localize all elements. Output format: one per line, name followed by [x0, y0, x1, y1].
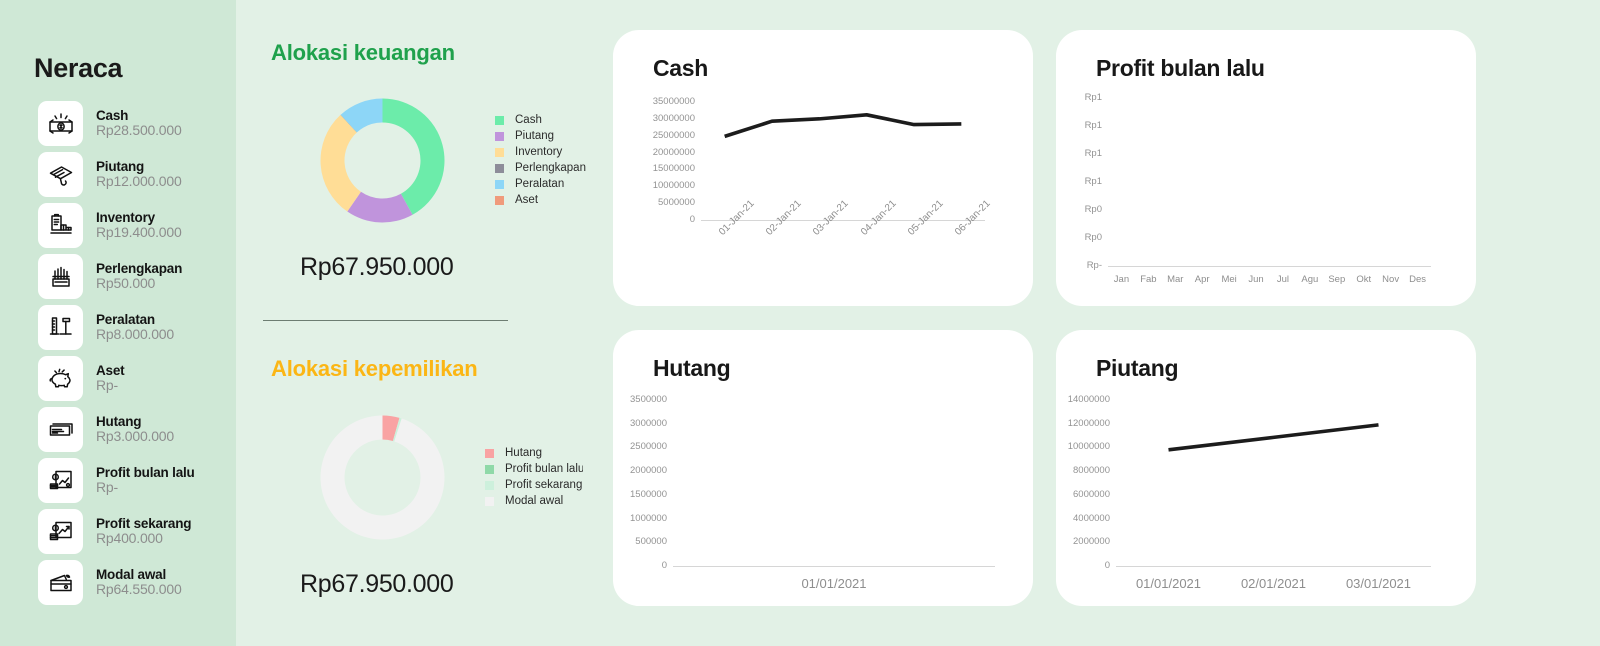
- wallet-icon: [38, 560, 83, 605]
- sidebar-item-label: Cash: [96, 108, 182, 123]
- profit-report-icon: [38, 458, 83, 503]
- legend-item[interactable]: Profit sekarang: [485, 477, 583, 493]
- sidebar-item-value: Rp64.550.000: [96, 582, 182, 598]
- chart-card-profit-bulan-lalu: Profit bulan lalu Rp1Rp1Rp1Rp1Rp0Rp0Rp-J…: [1056, 30, 1476, 306]
- sidebar-item-text: Profit bulan laluRp-: [96, 465, 195, 496]
- legend-item[interactable]: Hutang: [485, 445, 583, 461]
- sidebar-item-label: Profit bulan lalu: [96, 465, 195, 480]
- sidebar-item-aset[interactable]: AsetRp-: [38, 356, 195, 401]
- y-axis-tick-label: 3500000: [595, 394, 667, 405]
- sidebar-item-profit-sekarang[interactable]: Profit sekarangRp400.000: [38, 509, 195, 554]
- debt-card-icon: [38, 407, 83, 452]
- sidebar-item-text: PerlengkapanRp50.000: [96, 261, 182, 292]
- legend-label: Perlengkapan: [515, 162, 586, 174]
- legend-label: Piutang: [515, 130, 554, 142]
- sidebar-item-label: Aset: [96, 363, 124, 378]
- sidebar-item-value: Rp-: [96, 480, 195, 496]
- sidebar-item-label: Inventory: [96, 210, 182, 225]
- sidebar-item-modal-awal[interactable]: Modal awalRp64.550.000: [38, 560, 195, 605]
- legend-swatch-icon: [485, 465, 494, 474]
- sidebar-item-text: PeralatanRp8.000.000: [96, 312, 174, 343]
- y-axis-tick-label: 1000000: [595, 513, 667, 524]
- legend-item[interactable]: Modal awal: [485, 493, 583, 509]
- sidebar-item-text: AsetRp-: [96, 363, 124, 394]
- sidebar-item-text: HutangRp3.000.000: [96, 414, 174, 445]
- sidebar-item-perlengkapan[interactable]: PerlengkapanRp50.000: [38, 254, 195, 299]
- legend-item[interactable]: Perlengkapan: [495, 160, 586, 176]
- donut-legend-alokasi-keuangan: CashPiutangInventoryPerlengkapanPeralata…: [495, 112, 586, 208]
- chart-plot-piutang: 1400000012000000100000008000000600000040…: [1056, 330, 1476, 606]
- sidebar-item-peralatan[interactable]: PeralatanRp8.000.000: [38, 305, 195, 350]
- sidebar-item-label: Perlengkapan: [96, 261, 182, 276]
- x-axis-tick-label: 01/01/2021: [779, 576, 889, 591]
- cash-icon: [38, 101, 83, 146]
- sidebar-item-value: Rp19.400.000: [96, 225, 182, 241]
- legend-swatch-icon: [485, 497, 494, 506]
- legend-label: Modal awal: [505, 495, 563, 507]
- sidebar-item-text: InventoryRp19.400.000: [96, 210, 182, 241]
- chart-card-piutang: Piutang 14000000120000001000000080000006…: [1056, 330, 1476, 606]
- chart-plot-hutang: 3500000300000025000002000000150000010000…: [613, 330, 1033, 606]
- legend-item[interactable]: Aset: [495, 192, 586, 208]
- chart-plot-cash: 3500000030000000250000002000000015000000…: [613, 30, 1033, 306]
- data-series-line: [725, 115, 962, 137]
- legend-swatch-icon: [495, 196, 504, 205]
- y-axis-tick-label: Rp1: [1030, 176, 1102, 187]
- chart-card-cash: Cash 35000000300000002500000020000000150…: [613, 30, 1033, 306]
- legend-item[interactable]: Cash: [495, 112, 586, 128]
- sidebar: Neraca CashRp28.500.000 PiutangRp12.000.…: [0, 0, 236, 646]
- x-axis-line: [673, 566, 995, 567]
- legend-swatch-icon: [495, 164, 504, 173]
- y-axis-tick-label: Rp1: [1030, 148, 1102, 159]
- donut-chart-alokasi-kepemilikan: [310, 405, 455, 550]
- donut-slice: [321, 416, 445, 540]
- sidebar-item-label: Peralatan: [96, 312, 174, 327]
- y-axis-tick-label: Rp-: [1030, 260, 1102, 271]
- sidebar-item-piutang[interactable]: PiutangRp12.000.000: [38, 152, 195, 197]
- y-axis-tick-label: 2500000: [595, 441, 667, 452]
- allocation-financial-heading: Alokasi keuangan: [271, 40, 455, 66]
- legend-label: Hutang: [505, 447, 542, 459]
- legend-label: Peralatan: [515, 178, 564, 190]
- sidebar-item-value: Rp12.000.000: [96, 174, 182, 190]
- y-axis-tick-label: 0: [595, 560, 667, 571]
- sidebar-item-value: Rp50.000: [96, 276, 182, 292]
- sidebar-item-value: Rp8.000.000: [96, 327, 174, 343]
- legend-swatch-icon: [495, 116, 504, 125]
- legend-label: Inventory: [515, 146, 562, 158]
- y-axis-tick-label: 500000: [595, 536, 667, 547]
- sidebar-item-value: Rp400.000: [96, 531, 191, 547]
- y-axis-tick-label: Rp0: [1030, 204, 1102, 215]
- legend-item[interactable]: Peralatan: [495, 176, 586, 192]
- sidebar-item-text: CashRp28.500.000: [96, 108, 182, 139]
- sidebar-item-cash[interactable]: CashRp28.500.000: [38, 101, 195, 146]
- y-axis-tick-label: Rp1: [1030, 92, 1102, 103]
- credit-card-icon: [38, 152, 83, 197]
- legend-item[interactable]: Inventory: [495, 144, 586, 160]
- y-axis-tick-label: 2000000: [595, 465, 667, 476]
- sidebar-item-label: Profit sekarang: [96, 516, 191, 531]
- supplies-icon: [38, 254, 83, 299]
- data-series-line: [1169, 425, 1379, 450]
- sidebar-item-label: Hutang: [96, 414, 174, 429]
- legend-swatch-icon: [495, 132, 504, 141]
- section-divider: [263, 320, 508, 321]
- legend-label: Profit sekarang: [505, 479, 582, 491]
- x-axis-line: [1108, 266, 1431, 267]
- donut-chart-alokasi-keuangan: [310, 88, 455, 233]
- allocation-ownership-total: Rp67.950.000: [300, 570, 453, 599]
- piggy-bank-icon: [38, 356, 83, 401]
- donut-legend-alokasi-kepemilikan: HutangProfit bulan laluProfit sekarangMo…: [485, 445, 583, 509]
- y-axis-tick-label: Rp1: [1030, 120, 1102, 131]
- tools-icon: [38, 305, 83, 350]
- legend-swatch-icon: [485, 449, 494, 458]
- allocation-column: Alokasi keuangan Rp67.950.000 CashPiutan…: [236, 0, 614, 646]
- legend-label: Profit bulan lalu: [505, 463, 583, 475]
- page-title: Neraca: [34, 53, 122, 84]
- legend-item[interactable]: Piutang: [495, 128, 586, 144]
- x-axis-tick-label: Des: [1363, 274, 1473, 285]
- y-axis-tick-label: 3000000: [595, 418, 667, 429]
- sidebar-item-hutang[interactable]: HutangRp3.000.000: [38, 407, 195, 452]
- profit-chart-icon: [38, 509, 83, 554]
- inventory-icon: [38, 203, 83, 248]
- allocation-ownership-heading: Alokasi kepemilikan: [271, 356, 478, 382]
- sidebar-item-label: Modal awal: [96, 567, 182, 582]
- legend-label: Cash: [515, 114, 542, 126]
- legend-swatch-icon: [485, 481, 494, 490]
- legend-swatch-icon: [495, 148, 504, 157]
- sidebar-item-text: Modal awalRp64.550.000: [96, 567, 182, 598]
- legend-swatch-icon: [495, 180, 504, 189]
- sidebar-item-value: Rp-: [96, 378, 124, 394]
- sidebar-item-text: PiutangRp12.000.000: [96, 159, 182, 190]
- sidebar-item-value: Rp28.500.000: [96, 123, 182, 139]
- sidebar-item-label: Piutang: [96, 159, 182, 174]
- sidebar-item-list: CashRp28.500.000 PiutangRp12.000.000 Inv…: [38, 101, 195, 611]
- legend-item[interactable]: Profit bulan lalu: [485, 461, 583, 477]
- allocation-financial-total: Rp67.950.000: [300, 253, 453, 282]
- sidebar-item-text: Profit sekarangRp400.000: [96, 516, 191, 547]
- sidebar-item-profit-bulan-lalu[interactable]: Profit bulan laluRp-: [38, 458, 195, 503]
- chart-card-hutang: Hutang 350000030000002500000200000015000…: [613, 330, 1033, 606]
- y-axis-tick-label: Rp0: [1030, 232, 1102, 243]
- sidebar-item-value: Rp3.000.000: [96, 429, 174, 445]
- y-axis-tick-label: 1500000: [595, 489, 667, 500]
- chart-plot-profit-bulan-lalu: Rp1Rp1Rp1Rp1Rp0Rp0Rp-JanFabMarAprMeiJunJ…: [1056, 30, 1476, 306]
- legend-label: Aset: [515, 194, 538, 206]
- donut-slice: [383, 99, 445, 215]
- sidebar-item-inventory[interactable]: InventoryRp19.400.000: [38, 203, 195, 248]
